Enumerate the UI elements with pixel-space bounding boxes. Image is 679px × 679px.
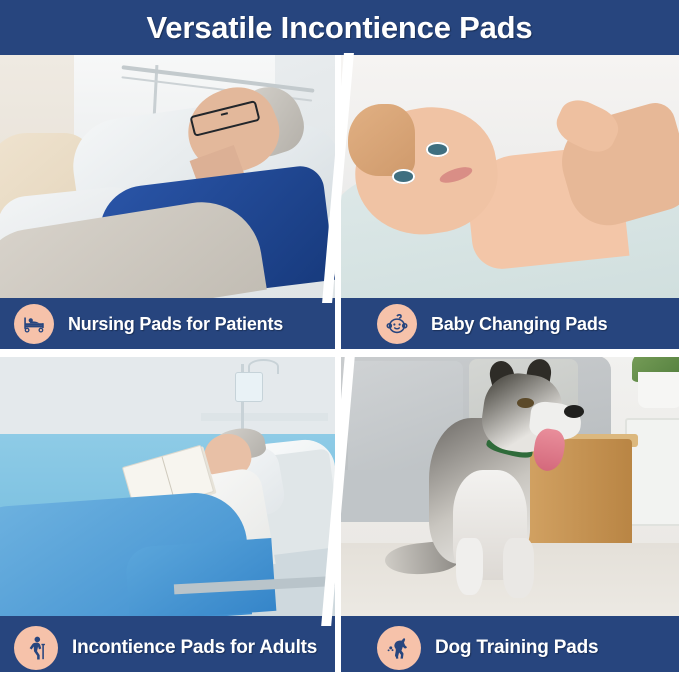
panel-label-adults: Incontience Pads for Adults [72,637,317,659]
panel-dog-training-pads[interactable]: Dog Training Pads [341,356,679,679]
infographic-root: Versatile Incontience Pads [0,0,679,679]
header-bar: Versatile Incontience Pads [0,0,679,55]
page-title: Versatile Incontience Pads [147,10,533,46]
label-bar-dog: Dog Training Pads [341,616,679,679]
divider-horizontal [0,349,679,357]
dog-icon [377,626,421,670]
elderly-person-with-cane-icon [14,626,58,670]
photo-nursing-patient [0,55,335,298]
label-bar-baby: Baby Changing Pads [341,298,679,350]
label-bar-adults: Incontience Pads for Adults [0,616,335,679]
panel-baby-changing-pads[interactable]: Baby Changing Pads [341,55,679,350]
panel-adult-incontinence-pads[interactable]: Incontience Pads for Adults [0,356,335,679]
panel-label-baby: Baby Changing Pads [431,314,607,335]
label-bar-nursing: Nursing Pads for Patients [0,298,335,350]
panel-label-nursing: Nursing Pads for Patients [68,314,283,335]
panel-label-dog: Dog Training Pads [435,637,598,659]
panel-nursing-pads[interactable]: Nursing Pads for Patients [0,55,335,350]
photo-elderly-woman-reading [0,356,335,616]
photo-husky-dog [341,356,679,616]
photo-baby-changing [341,55,679,298]
hospital-bed-icon [14,304,54,344]
baby-face-icon [377,304,417,344]
divider-bottom-edge [0,672,679,679]
